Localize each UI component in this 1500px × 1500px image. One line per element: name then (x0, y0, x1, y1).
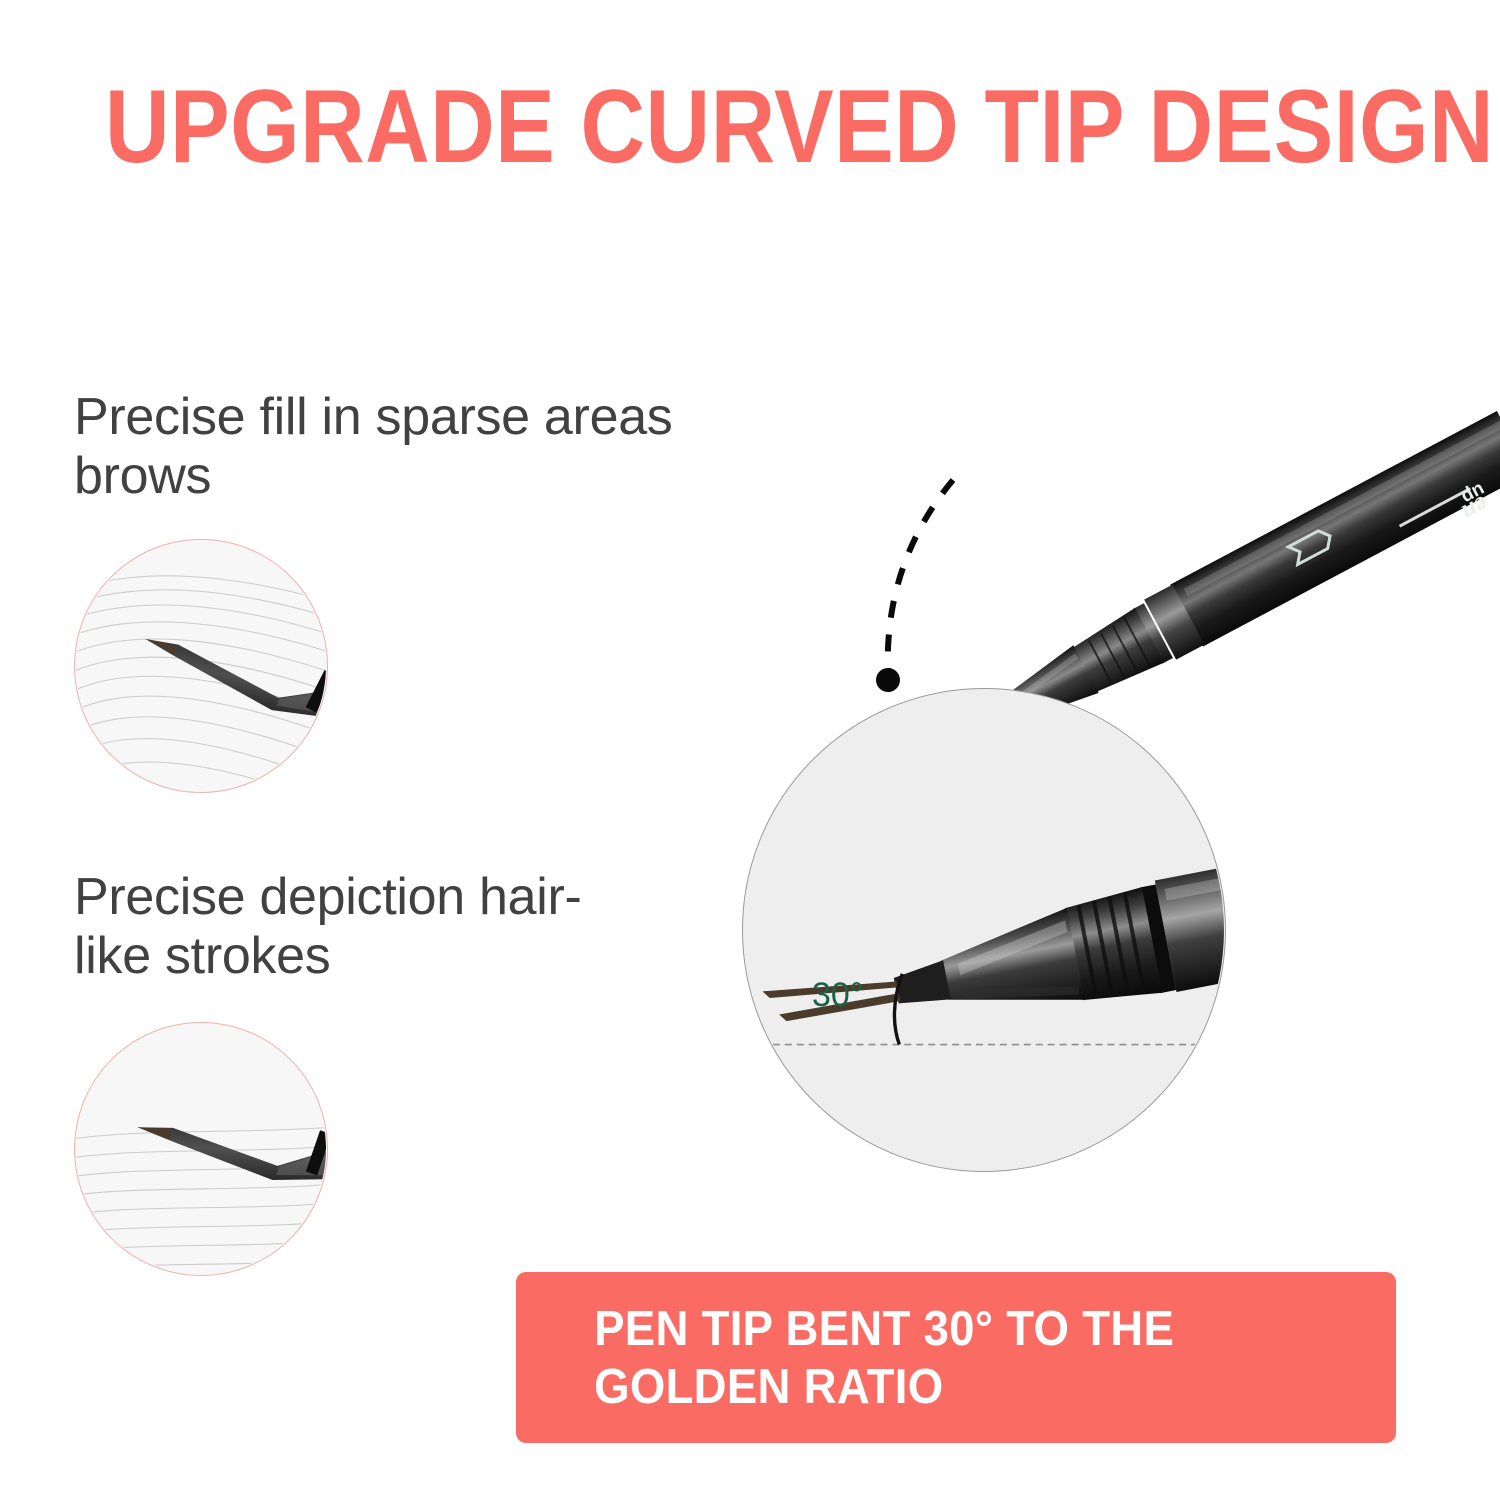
barrel-arrow-icon (1288, 527, 1334, 564)
bottom-banner-text: PEN TIP BENT 30° TO THE GOLDEN RATIO (516, 1300, 1211, 1416)
magnifier-circle (742, 688, 1226, 1172)
feature-label-hair-strokes: Precise depiction hair-like strokes (74, 868, 594, 986)
feature-image-sparse-brows (74, 539, 328, 793)
feature-block-sparse-brows: Precise fill in sparse areas brows (74, 388, 714, 793)
barrel-script-text: en (1457, 490, 1494, 528)
page-headline: UPGRADE CURVED TIP DESIGN (105, 72, 1395, 182)
bottom-banner: PEN TIP BENT 30° TO THE GOLDEN RATIO (516, 1272, 1396, 1443)
feature-label-sparse-brows: Precise fill in sparse areas brows (74, 388, 674, 506)
feature-block-hair-strokes: Precise depiction hair-like strokes (74, 868, 714, 1276)
feature-image-hair-strokes (74, 1022, 328, 1276)
callout-leader-dot (876, 668, 900, 692)
callout-leader-line (888, 480, 953, 672)
angle-label: 30° (812, 978, 863, 1012)
barrel-text: up (1458, 479, 1488, 508)
